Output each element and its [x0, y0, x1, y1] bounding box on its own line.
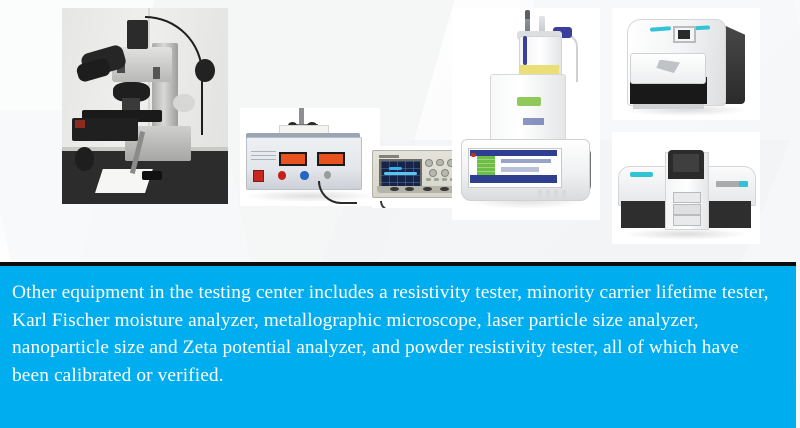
- oscilloscope-cable: [380, 201, 423, 208]
- microscope-camera-port: [127, 20, 149, 49]
- oscilloscope-screen: [379, 159, 423, 188]
- vessel-inner-probe: [523, 36, 527, 66]
- stage-indicator: [75, 120, 85, 128]
- blue-knob: [300, 171, 308, 180]
- display-window: [673, 26, 696, 43]
- caption-text: Other equipment in the testing center in…: [12, 279, 774, 389]
- scope-button-1: [426, 178, 431, 181]
- bnc-connector-2: [405, 187, 414, 191]
- measurement-cell-1: [673, 192, 702, 203]
- measurement-cell-2: [673, 204, 702, 215]
- electrode-cap: [525, 10, 531, 18]
- photo-nanoparticle-zeta-potential-analyzer: [612, 8, 760, 120]
- photo-minority-carrier-lifetime-tester: [240, 108, 380, 206]
- panel-label: [251, 151, 276, 163]
- bnc-connector-1: [390, 187, 399, 191]
- led-display-right: [317, 152, 345, 166]
- bnc-connector-4: [440, 187, 449, 191]
- left-dark-base: [621, 201, 665, 228]
- brand-accent-left: [630, 172, 654, 176]
- led-display-left: [279, 152, 307, 166]
- sample-hood-opening: [673, 154, 700, 172]
- measurement-cell-3: [673, 215, 702, 226]
- oscilloscope-brand-mark: [379, 155, 400, 158]
- red-knob: [278, 171, 286, 180]
- analyzer-tower: [490, 74, 566, 148]
- power-switch: [253, 170, 265, 182]
- right-dark-base: [707, 201, 751, 228]
- caption-panel: Other equipment in the testing center in…: [0, 266, 796, 428]
- presentation-slide: Other equipment in the testing center in…: [0, 0, 800, 428]
- brand-accent-right: [739, 181, 748, 187]
- lcd-text-line-1: [501, 159, 551, 164]
- keypad: [538, 190, 568, 198]
- drawer-lip: [633, 104, 704, 108]
- oscilloscope-connector-strip: [377, 186, 460, 193]
- photo-metallographic-microscope: [62, 8, 228, 204]
- display-window-inner: [678, 30, 690, 39]
- bnc-connector-3: [423, 187, 432, 191]
- brand-wordmark: [523, 118, 544, 124]
- lcd-text-line-2: [501, 167, 539, 172]
- sample-arm-base: [142, 171, 162, 181]
- waveform-trace: [384, 172, 417, 175]
- microscope-switch: [153, 67, 160, 79]
- lcd-status-bar: [470, 175, 557, 182]
- waveform-trace-secondary: [389, 167, 402, 170]
- brand-wordmark: [716, 181, 743, 187]
- scope-knob-1: [425, 159, 433, 167]
- scope-knob-4: [429, 169, 437, 177]
- reagent-tubing: [564, 33, 578, 82]
- scope-knob-2: [436, 159, 444, 167]
- microscope-coarse-knob: [75, 147, 93, 171]
- scope-button-3: [442, 178, 447, 181]
- photo-karl-fischer-moisture-analyzer: [452, 8, 600, 220]
- photo-laser-particle-size-analyzer: [612, 132, 760, 244]
- microscope-focus-knob: [173, 94, 195, 112]
- scope-knob-5: [441, 169, 449, 177]
- brand-logo: [517, 97, 541, 105]
- microscope-side-knob: [195, 59, 215, 83]
- scope-button-2: [434, 178, 439, 181]
- gray-connector: [324, 171, 331, 179]
- lcd-menu-list: [477, 156, 495, 176]
